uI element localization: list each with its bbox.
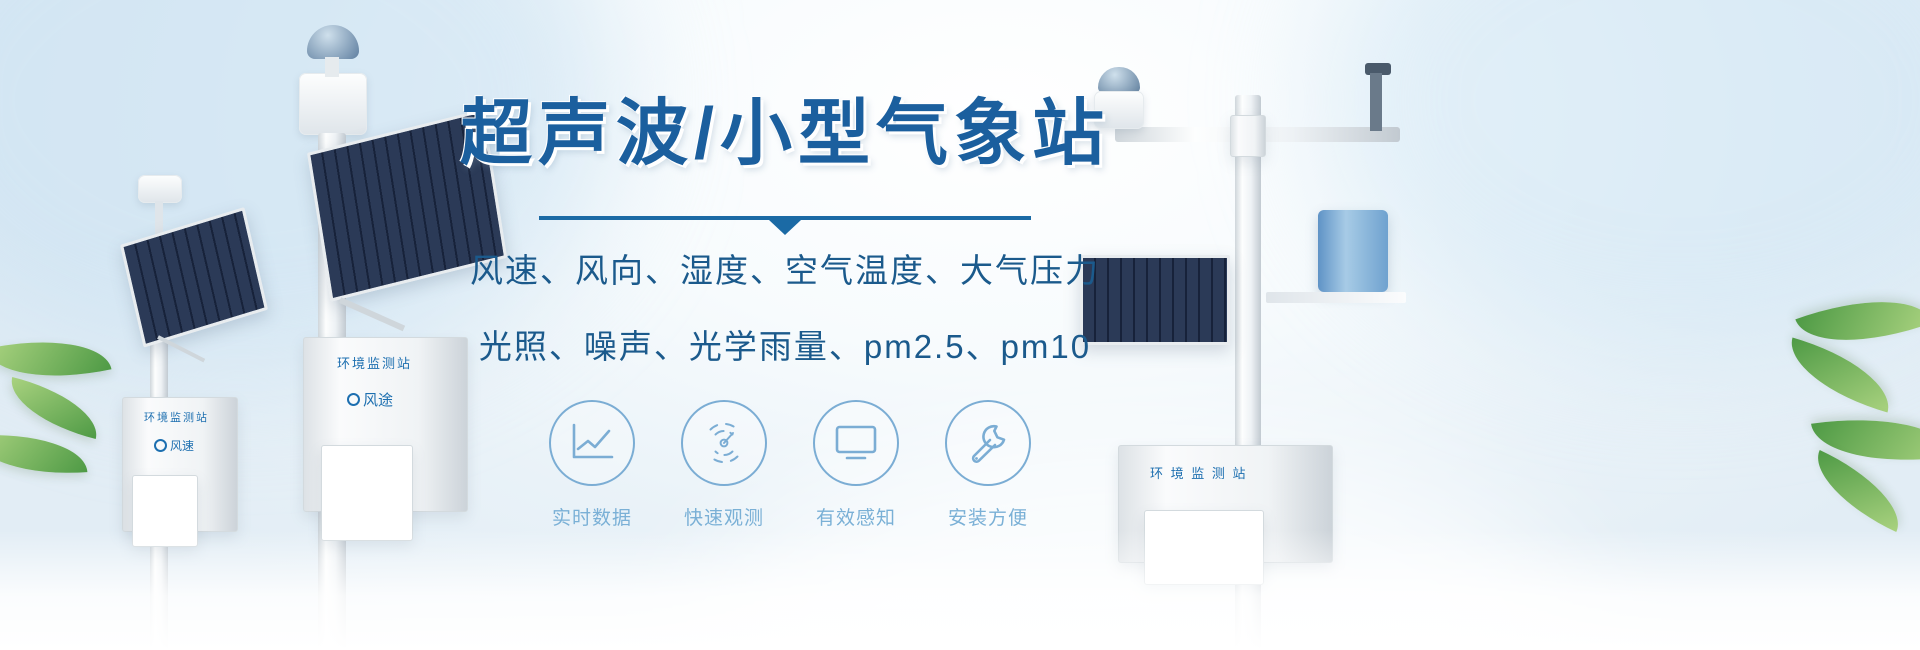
panel-brace-mid	[339, 297, 405, 331]
brand-mid-text: 风途	[363, 389, 393, 410]
radiation-shield-left	[138, 175, 182, 203]
feature-label: 实时数据	[540, 503, 644, 530]
title-divider	[539, 216, 1031, 220]
sensor-stem-mid	[325, 57, 339, 77]
feature-item-fast-observation[interactable]: 快速观测	[672, 400, 776, 530]
feature-label: 安装方便	[936, 503, 1040, 530]
enclosure-left-label: 环境监测站	[144, 409, 209, 425]
page-title: 超声波/小型气象站	[440, 96, 1130, 172]
radar-scan-icon	[681, 400, 767, 486]
anemometer-right	[1370, 73, 1382, 131]
enclosure-mid-label: 环境监测站	[337, 353, 412, 372]
ultrasonic-wind-sensor-right	[1098, 67, 1140, 93]
feature-item-realtime-data[interactable]: 实时数据	[540, 400, 644, 530]
cross-arm-joint	[1230, 115, 1266, 157]
leaf-decor-right-2	[1780, 337, 1900, 412]
enclosure-left-brand: 风速	[154, 437, 194, 454]
leaf-decor-right-4	[1802, 450, 1914, 532]
leaf-decor-left-2	[3, 377, 106, 439]
rain-gauge-shelf	[1266, 292, 1406, 303]
enclosure-right-label: 环 境 监 测 站	[1150, 463, 1247, 482]
ultrasonic-wind-sensor	[307, 25, 359, 59]
enclosure-mid-brand: 风途	[347, 389, 393, 410]
feature-item-effective-sensing[interactable]: 有效感知	[804, 400, 908, 530]
brand-left-text: 风速	[170, 437, 194, 454]
weather-station-banner: 环境监测站 风速 环境监测站 风途	[0, 0, 1920, 650]
feature-label: 有效感知	[804, 503, 908, 530]
brand-mark-icon	[154, 439, 167, 452]
banner-copy: 超声波/小型气象站 风速、风向、湿度、空气温度、大气压力 光照、噪声、光学雨量、…	[440, 96, 1130, 371]
enclosure-mid-lower	[321, 445, 413, 541]
wrench-icon	[945, 400, 1031, 486]
ground-fade	[0, 530, 1920, 650]
feature-item-easy-installation[interactable]: 安装方便	[936, 400, 1040, 530]
divider-triangle-icon	[769, 220, 801, 235]
subtitle-line-1: 风速、风向、湿度、空气温度、大气压力	[440, 246, 1130, 296]
feature-label: 快速观测	[672, 503, 776, 530]
solar-panel-left	[120, 207, 268, 348]
monitor-icon	[813, 400, 899, 486]
radiation-shield-mid	[299, 73, 367, 135]
feature-list: 实时数据 快速观测 有效感知	[540, 400, 1040, 530]
leaf-decor-left-3	[0, 428, 87, 480]
line-chart-icon	[549, 400, 635, 486]
rain-gauge	[1318, 210, 1388, 292]
subtitle-line-2: 光照、噪声、光学雨量、pm2.5、pm10	[440, 322, 1130, 372]
brand-mark-icon	[347, 393, 360, 406]
